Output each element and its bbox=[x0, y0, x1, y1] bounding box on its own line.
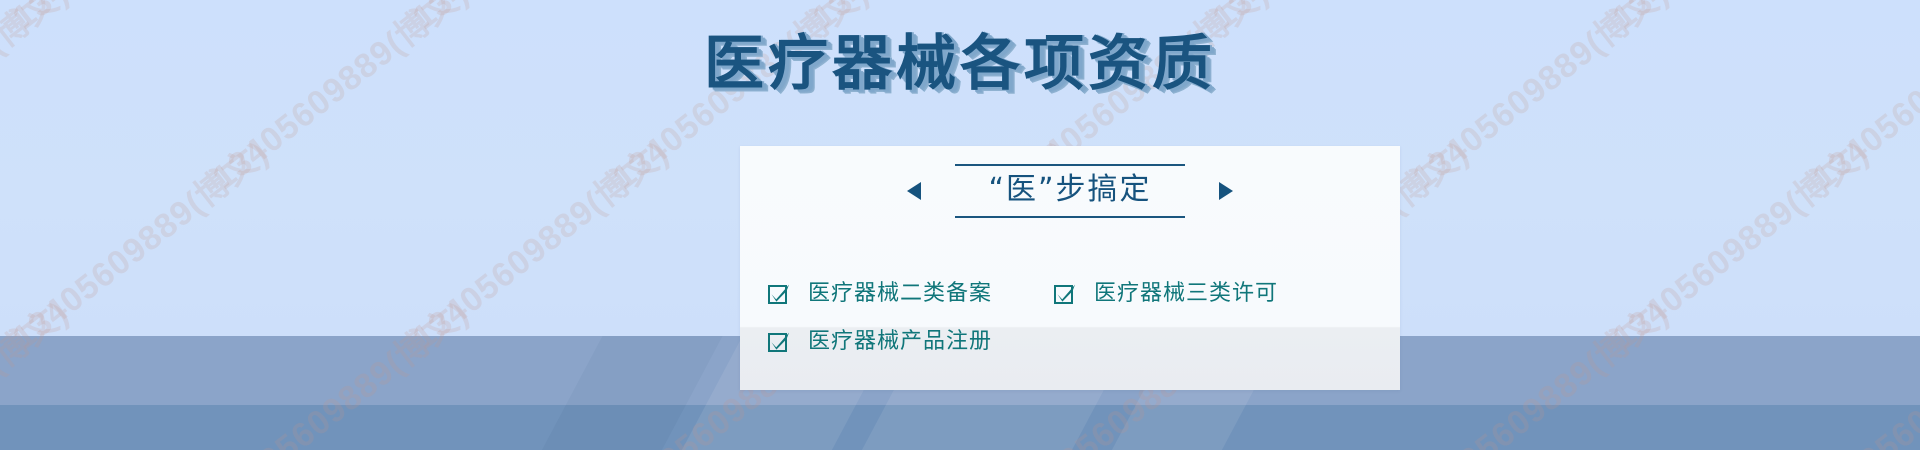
promo-banner: 13405609889(博文)13405609889(博文)1340560988… bbox=[0, 0, 1920, 450]
banner-title-wrap: 医疗器械各项资质 bbox=[0, 34, 1920, 94]
checklist-item-label: 医疗器械产品注册 bbox=[808, 331, 992, 353]
subtitle-block: “医”步搞定 bbox=[740, 164, 1400, 218]
rule-bottom bbox=[955, 216, 1185, 218]
content-card: “医”步搞定 医疗器械二类备案医疗器械三类许可医疗器械产品注册 bbox=[740, 146, 1400, 390]
triangle-left-icon bbox=[907, 182, 921, 200]
checklist-item-label: 医疗器械三类许可 bbox=[1094, 283, 1278, 305]
checklist-item[interactable]: 医疗器械产品注册 bbox=[768, 331, 1054, 353]
checklist-row: 医疗器械二类备案医疗器械三类许可 bbox=[768, 270, 1388, 318]
checklist-row: 医疗器械产品注册 bbox=[768, 318, 1388, 366]
banner-subtitle: “医”步搞定 bbox=[988, 166, 1151, 216]
checkbox-checked-icon[interactable] bbox=[768, 283, 790, 305]
checklist-item[interactable]: 医疗器械二类备案 bbox=[768, 283, 1054, 305]
qualification-checklist: 医疗器械二类备案医疗器械三类许可医疗器械产品注册 bbox=[768, 270, 1388, 366]
banner-title: 医疗器械各项资质 bbox=[704, 34, 1216, 94]
checklist-item[interactable]: 医疗器械三类许可 bbox=[1054, 283, 1334, 305]
triangle-right-icon bbox=[1219, 182, 1233, 200]
subtitle-rules: “医”步搞定 bbox=[955, 164, 1185, 218]
checkbox-checked-icon[interactable] bbox=[768, 331, 790, 353]
checklist-item-label: 医疗器械二类备案 bbox=[808, 283, 992, 305]
checkbox-checked-icon[interactable] bbox=[1054, 283, 1076, 305]
